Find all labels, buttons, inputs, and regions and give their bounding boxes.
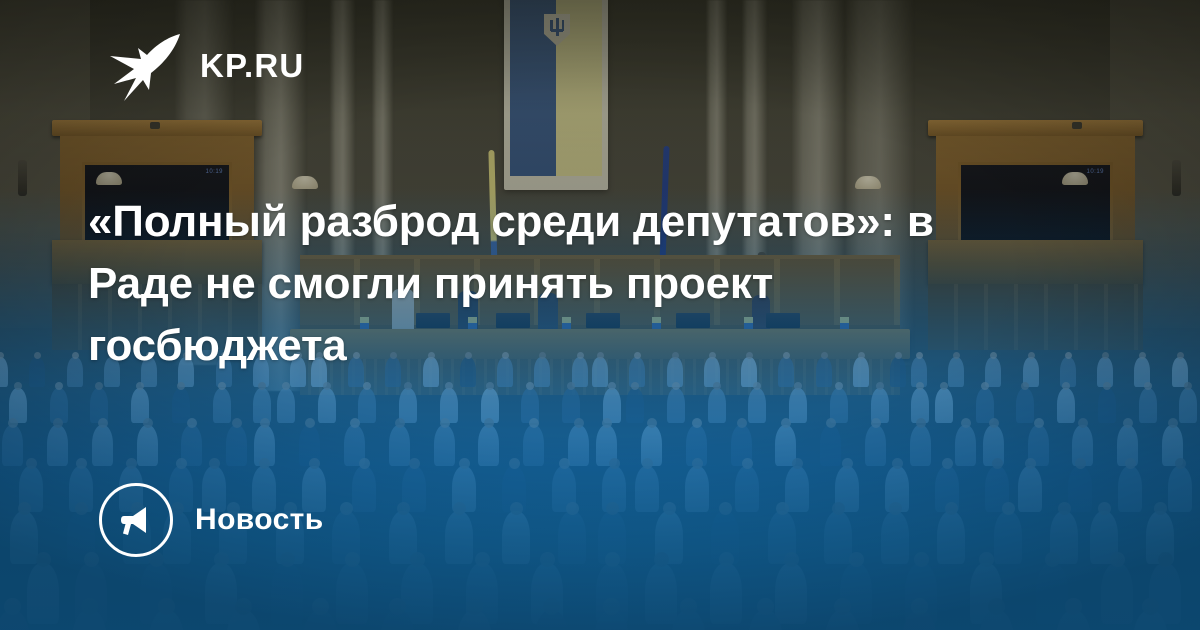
badge-label: Новость [195,503,324,537]
brand-name: KP.RU [200,47,304,85]
swallow-bird-icon [108,28,182,104]
headline: «Полный разброд среди депутатов»: в Раде… [88,191,968,377]
social-share-card: 10:19 10:19 [0,0,1200,630]
news-badge[interactable]: Новость [99,483,324,557]
megaphone-icon [116,500,156,540]
badge-icon-circle [99,483,173,557]
brand-lockup[interactable]: KP.RU [108,28,304,104]
